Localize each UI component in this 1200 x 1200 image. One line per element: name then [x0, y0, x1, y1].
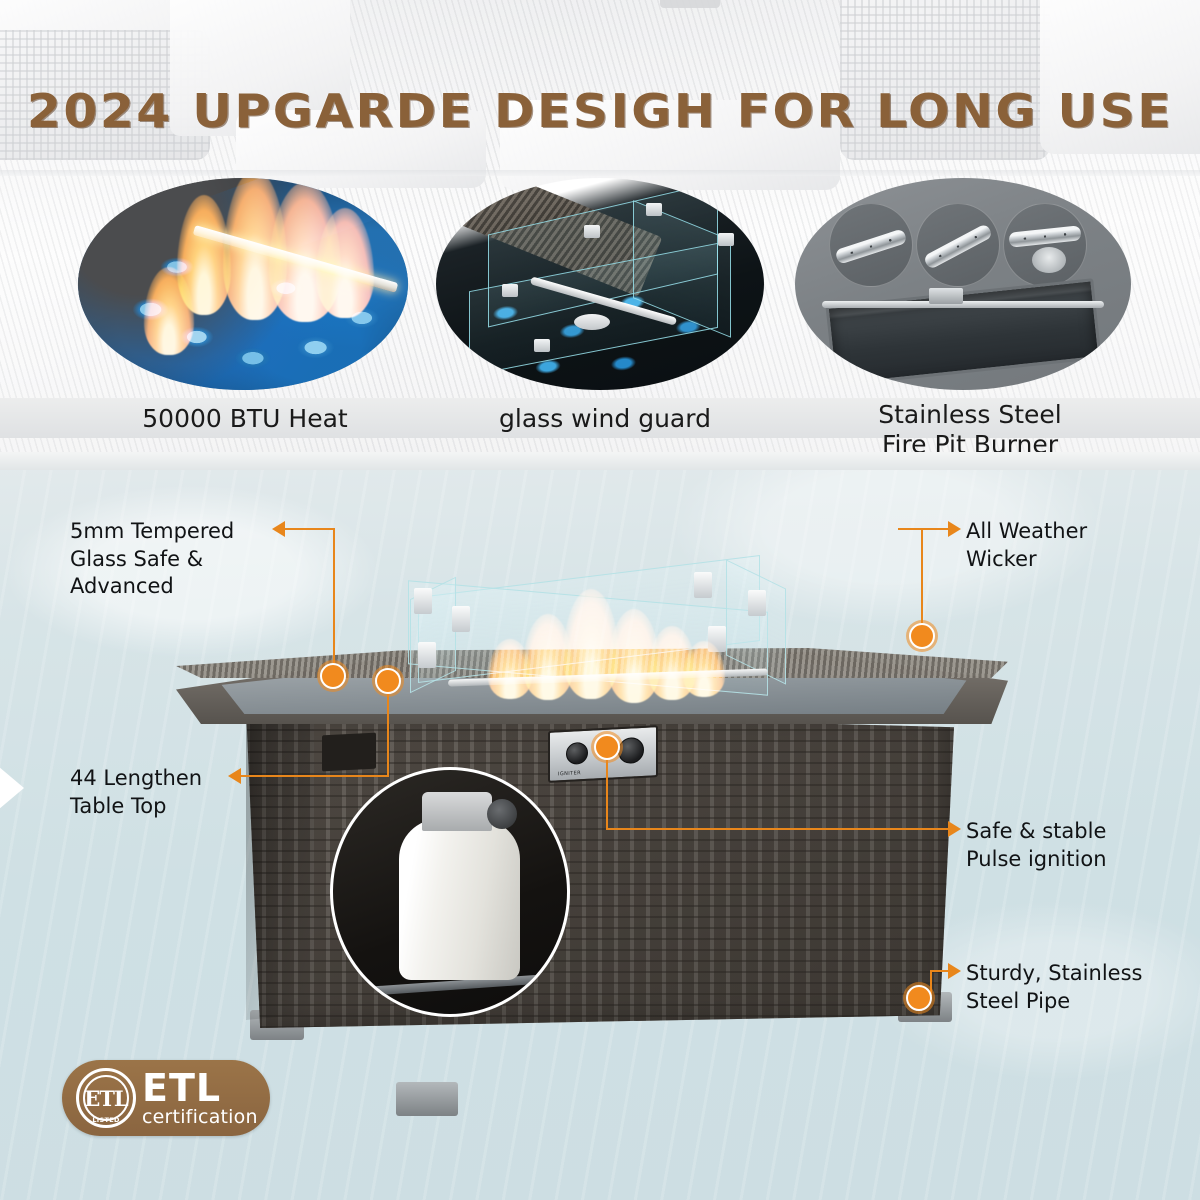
lead-line-tempered-glass-v [333, 528, 335, 666]
etl-mark-sub: LISTED [79, 1116, 133, 1124]
burner-tube-3-icon [1009, 225, 1082, 247]
lead-line-pipe-h [930, 970, 952, 972]
etl-badge-text: ETL certification [142, 1069, 258, 1127]
wind-guard-clip-2 [452, 606, 470, 632]
feature-image-btu-heat [78, 178, 408, 390]
feature-oval-row [0, 178, 1200, 393]
lead-line-ignition-h [606, 828, 950, 830]
propane-tank-inset [330, 767, 570, 1017]
wind-guard-clip-1 [414, 588, 432, 614]
lead-line-wicker-v [921, 528, 923, 626]
wicker-cabinet-left-face [246, 708, 314, 1020]
propane-tank [399, 819, 521, 980]
burner-detail-inset-1 [829, 203, 913, 287]
etl-badge-title: ETL [142, 1069, 258, 1107]
control-knob-left[interactable] [566, 742, 588, 765]
lead-line-lengthen-v [387, 692, 389, 776]
igniter-label: IGNITER [558, 770, 581, 777]
feature-image-steel-burner [795, 178, 1131, 390]
feature-caption-steel-burner: Stainless Steel Fire Pit Burner [790, 400, 1150, 459]
callout-pulse-ignition: Safe & stable Pulse ignition [966, 818, 1196, 873]
callout-lengthen-table-top: 44 Lengthen Table Top [70, 765, 300, 820]
burner-plate [574, 314, 610, 330]
feature-caption-btu-heat: 50000 BTU Heat [60, 404, 430, 434]
lead-line-lengthen-h [241, 775, 389, 777]
callout-all-weather-wicker: All Weather Wicker [966, 518, 1196, 573]
callout-arrow-lengthen-table-top [228, 768, 241, 784]
glass-clip-1 [502, 284, 518, 297]
etl-mark-text: ETL [84, 1086, 127, 1111]
burner-tube-2-icon [923, 223, 994, 270]
cabinet-vent [322, 733, 376, 772]
callout-dot-tempered-glass[interactable] [320, 663, 346, 689]
glass-clip-4 [718, 233, 734, 246]
glass-clip-3 [646, 203, 662, 216]
etl-listed-mark-icon: ETL LISTED [76, 1068, 136, 1128]
flames [478, 604, 728, 688]
wall-outlet [660, 0, 720, 8]
table-foot-front [396, 1082, 458, 1116]
wind-guard-clip-3 [694, 572, 712, 598]
feature-caption-wind-guard: glass wind guard [420, 404, 790, 434]
etl-certification-badge: ETL LISTED ETL certification [62, 1060, 270, 1136]
callout-dot-all-weather-wicker[interactable] [909, 623, 935, 649]
wind-guard-clip-4 [748, 590, 766, 616]
page-title: 2024 UPGARDE DESIGH FOR LONG USE [0, 84, 1200, 138]
callout-tempered-glass: 5mm Tempered Glass Safe & Advanced [70, 518, 300, 601]
callout-stainless-steel-pipe: Sturdy, Stainless Steel Pipe [966, 960, 1200, 1015]
burner-port-icon [1032, 247, 1066, 273]
feature-image-wind-guard [436, 178, 764, 390]
propane-tank-valve-collar [422, 792, 492, 831]
glass-clip-5 [534, 339, 550, 352]
lead-line-ignition-v [606, 752, 608, 830]
callout-dot-lengthen-table-top[interactable] [375, 668, 401, 694]
control-knob-right[interactable] [618, 737, 644, 764]
regulator-icon [487, 799, 517, 829]
igniter-box [929, 288, 963, 304]
inset-pointer [0, 766, 24, 810]
callout-dot-stainless-steel-pipe[interactable] [906, 985, 932, 1011]
floor-line-1 [0, 170, 1200, 176]
glass-clip-2 [584, 225, 600, 238]
table-flame-6 [683, 641, 725, 697]
etl-badge-subtitle: certification [142, 1108, 258, 1127]
burner-detail-inset-2 [916, 203, 1000, 287]
callout-arrow-tempered-glass [272, 521, 285, 537]
lead-line-wicker-h [898, 528, 950, 530]
infographic-page: 2024 UPGARDE DESIGH FOR LONG USE [0, 0, 1200, 1200]
lead-line-tempered-glass-h [285, 528, 335, 530]
wind-guard-clip-5 [418, 642, 436, 668]
callout-dot-pulse-ignition[interactable] [594, 734, 620, 760]
burner-tube-1-icon [834, 228, 907, 265]
